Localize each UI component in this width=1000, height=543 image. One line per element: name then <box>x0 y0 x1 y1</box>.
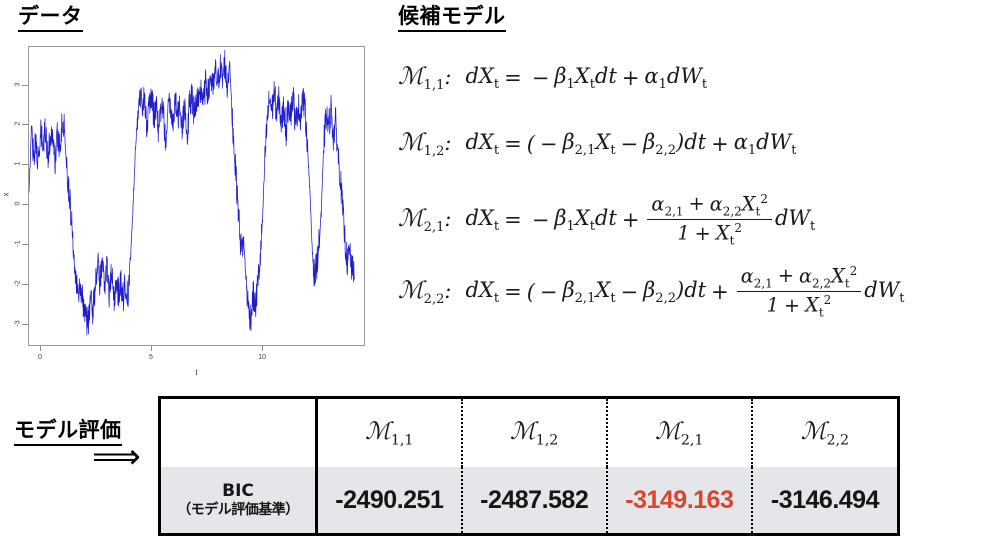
equation-body-m21: dXt=−β1Xtdt+ α2,1+α2,2Xt2 1+Xt2 dWt <box>465 192 815 248</box>
series-polyline <box>29 51 354 335</box>
x-axis-title: t <box>8 368 385 377</box>
equation-body-m22: dXt=(−β2,1Xt−β2,2)dt+ α2,1+α2,2Xt2 1+Xt2… <box>465 264 904 320</box>
row-header-bic-sub: （モデル評価基準） <box>161 502 315 519</box>
y-tick-label: -3 <box>15 316 22 332</box>
column-header-m11: ℳ1,1 <box>317 399 462 467</box>
bic-value-m22: -3146.494 <box>752 467 897 533</box>
chart-plot-area <box>28 46 365 346</box>
y-tick-label: 3 <box>15 77 22 93</box>
equation-m21: ℳ2,1: dXt=−β1Xtdt+ α2,1+α2,2Xt2 1+Xt2 dW… <box>398 192 815 248</box>
data-section-heading: データ <box>18 4 83 32</box>
y-tick-label: -1 <box>15 236 22 252</box>
x-tick-label: 10 <box>252 354 272 361</box>
equation-body-m12: dXt=(−β2,1Xt−β2,2)dt+α1dWt <box>465 130 796 158</box>
column-header-m21: ℳ2,1 <box>607 399 752 467</box>
y-tick-label: 2 <box>15 116 22 132</box>
y-tick-label: 1 <box>15 156 22 172</box>
table-row: BIC （モデル評価基準） -2490.251 -2487.582 -3149.… <box>161 467 897 533</box>
equation-label-m12: ℳ1,2: <box>398 128 451 159</box>
candidate-models-heading: 候補モデル <box>398 4 506 32</box>
y-axis-title: x <box>2 193 11 197</box>
table-header-row: ℳ1,1 ℳ1,2 ℳ2,1 ℳ2,2 <box>161 399 897 467</box>
x-tick-mark <box>151 346 152 351</box>
equation-body-m11: dXt=−β1Xtdt+α1dWt <box>465 64 707 92</box>
bic-value-m21: -3149.163 <box>607 467 752 533</box>
data-time-series-chart: 3 2 1 0 -1 -2 -3 x 0 5 10 t <box>8 40 378 370</box>
y-tick-label: 0 <box>15 196 22 212</box>
equation-label-m11: ℳ1,1: <box>398 62 451 93</box>
equation-m11: ℳ1,1: dXt=−β1Xtdt+α1dWt <box>398 62 707 93</box>
row-header-bic-main: BIC <box>161 481 315 501</box>
double-arrow-icon: ⟹ <box>92 440 141 474</box>
bic-value-m12: -2487.582 <box>462 467 607 533</box>
fraction-diffusion: α2,1+α2,2Xt2 1+Xt2 <box>737 264 862 320</box>
column-header-m22: ℳ2,2 <box>752 399 897 467</box>
column-header-m12: ℳ1,2 <box>462 399 607 467</box>
x-tick-label: 5 <box>141 354 161 361</box>
table-corner-cell <box>161 399 317 467</box>
x-tick-label: 0 <box>30 354 50 361</box>
y-tick-label: -2 <box>15 276 22 292</box>
series-line <box>29 47 364 345</box>
fraction-diffusion: α2,1+α2,2Xt2 1+Xt2 <box>647 192 772 248</box>
x-tick-mark <box>262 346 263 351</box>
bic-results-table: ℳ1,1 ℳ1,2 ℳ2,1 ℳ2,2 BIC （モデル評価基準） -2490.… <box>158 396 900 536</box>
x-tick-mark <box>40 346 41 351</box>
equation-m12: ℳ1,2: dXt=(−β2,1Xt−β2,2)dt+α1dWt <box>398 128 796 159</box>
equation-label-m22: ℳ2,2: <box>398 276 451 307</box>
equation-label-m21: ℳ2,1: <box>398 204 451 235</box>
row-header-bic: BIC （モデル評価基準） <box>161 467 317 533</box>
equation-m22: ℳ2,2: dXt=(−β2,1Xt−β2,2)dt+ α2,1+α2,2Xt2… <box>398 264 905 320</box>
bic-value-m11: -2490.251 <box>317 467 462 533</box>
